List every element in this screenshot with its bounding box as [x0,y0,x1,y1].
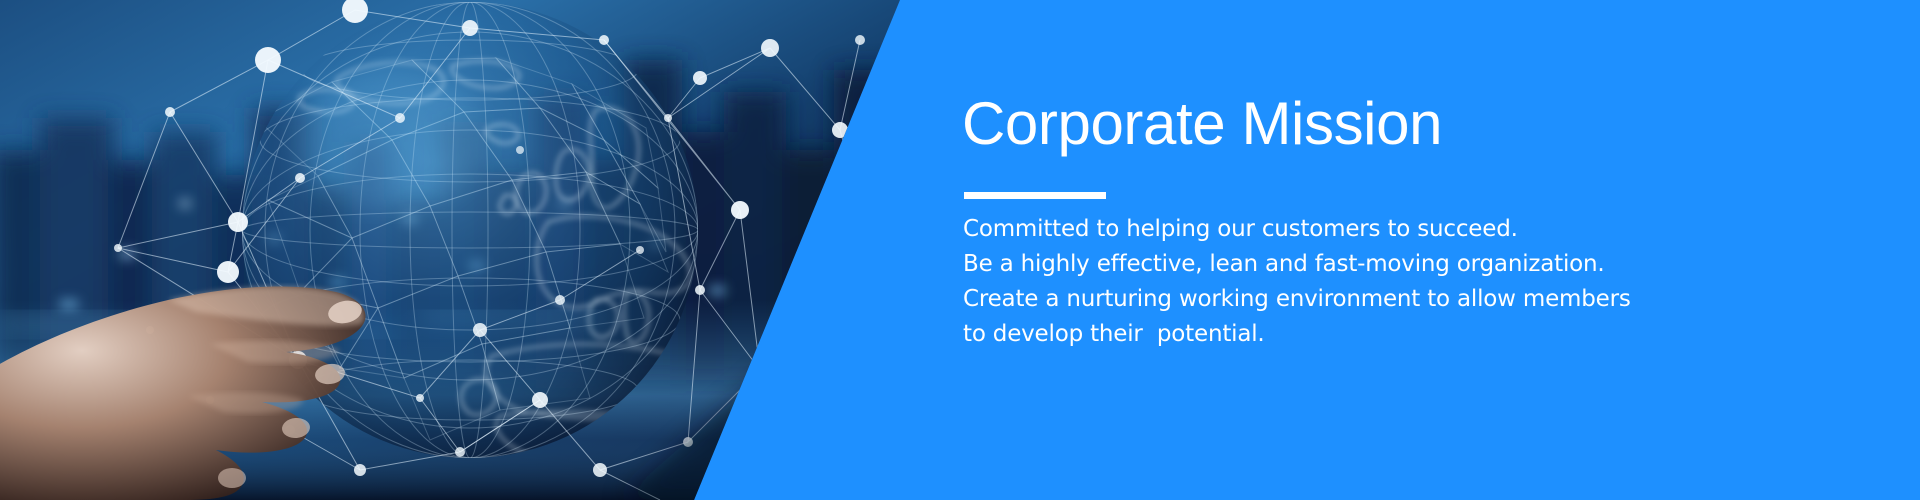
mission-statement-list: Committed to helping our customers to su… [963,212,1631,352]
title-divider-rule [964,192,1106,199]
banner-content: Corporate Mission Committed to helping o… [962,0,1822,500]
mission-line: Create a nurturing working environment t… [963,282,1631,317]
mission-line: to develop their potential. [963,317,1631,352]
page-title: Corporate Mission [962,92,1442,156]
corporate-mission-banner: Corporate Mission Committed to helping o… [0,0,1920,500]
mission-line: Be a highly effective, lean and fast-mov… [963,247,1631,282]
mission-line: Committed to helping our customers to su… [963,212,1631,247]
